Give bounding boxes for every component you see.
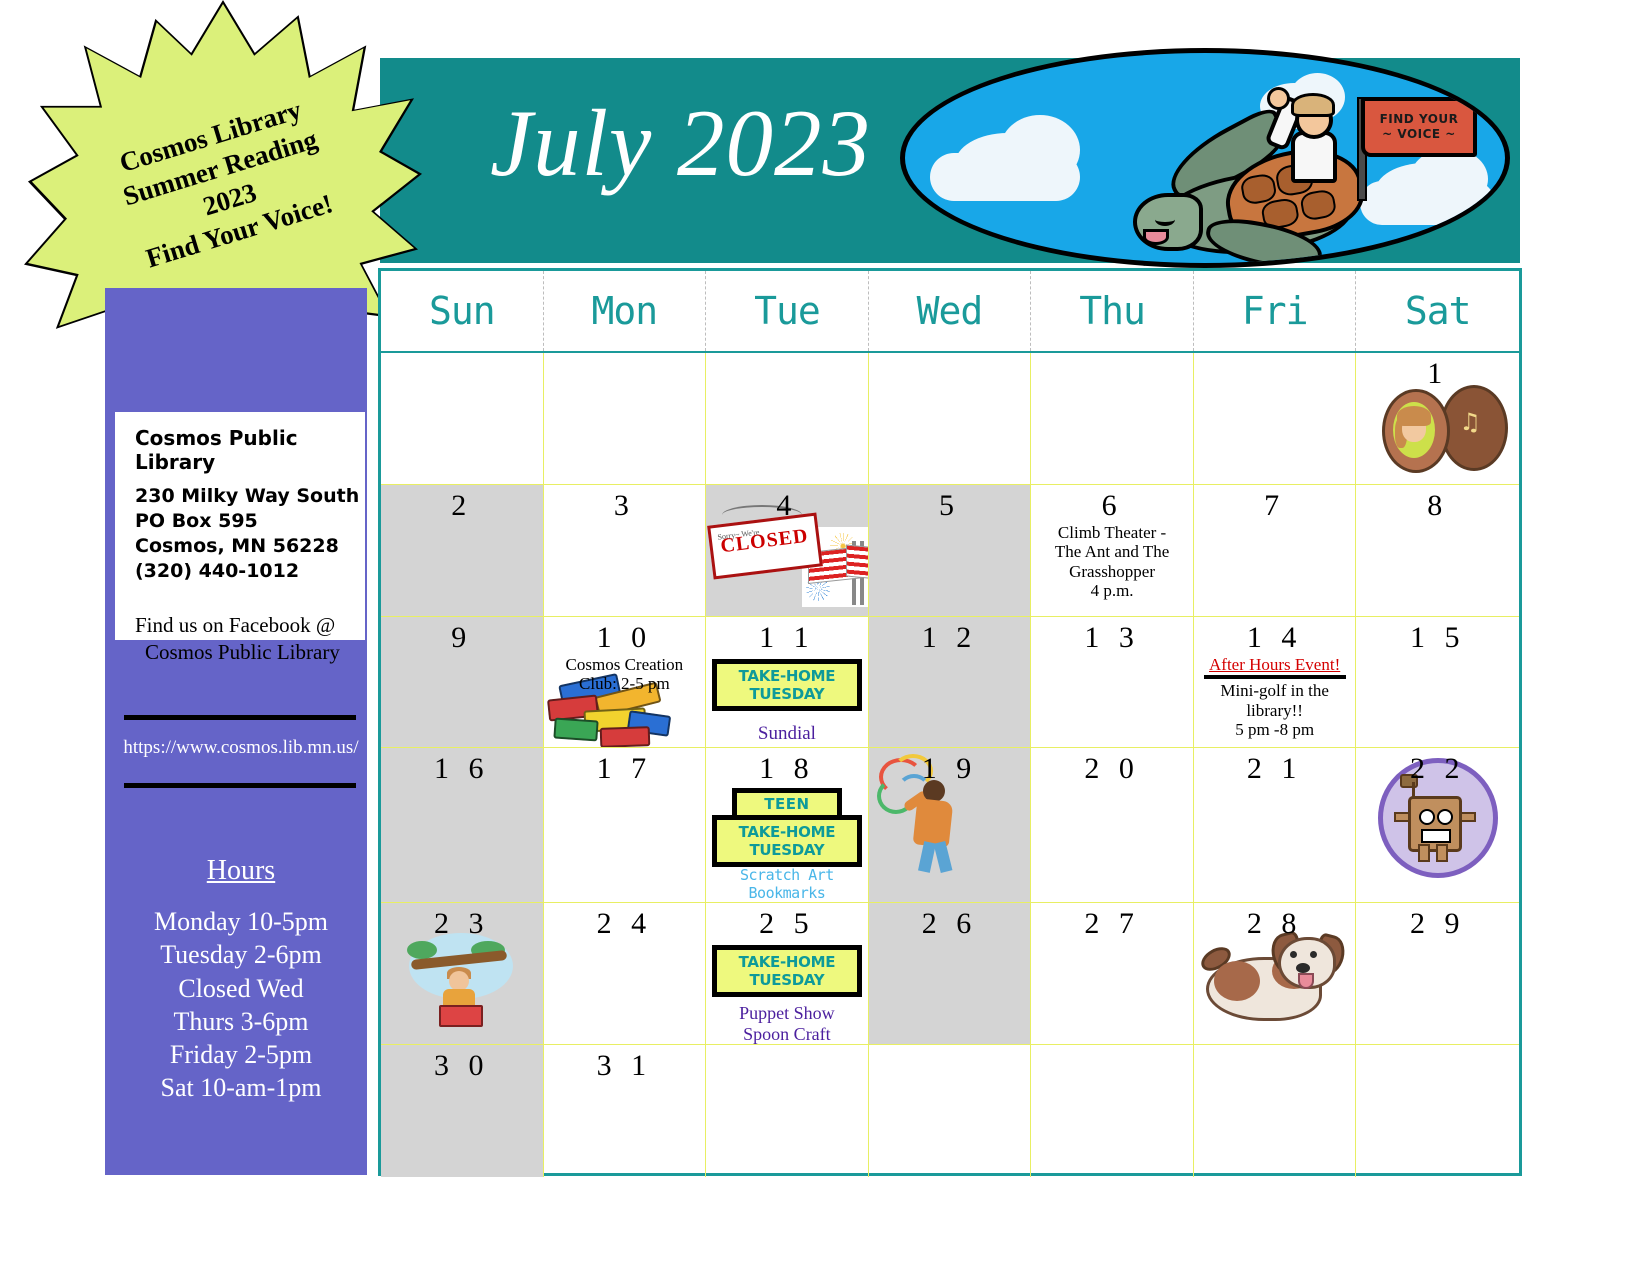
teen-banner: TEEN: [732, 788, 842, 815]
event-subtitle: Puppet Show Spoon Craft: [706, 1003, 868, 1044]
day-cell-31[interactable]: 3 1: [544, 1045, 707, 1177]
day-number: 1 2: [869, 617, 1031, 655]
hours-item: Monday 10-5pm: [112, 905, 370, 938]
day-cell-empty: [869, 353, 1032, 484]
day-cell-16[interactable]: 1 6: [381, 748, 544, 902]
day-cell-empty: [706, 1045, 869, 1177]
day-cell-1[interactable]: 1 ♫: [1356, 353, 1519, 484]
day-number: 1 5: [1356, 617, 1519, 655]
locket-portrait: [1393, 402, 1435, 458]
robot-mouth: [1421, 829, 1451, 843]
day-cell-15[interactable]: 1 5: [1356, 617, 1519, 748]
after-hours-alert: After Hours Event!: [1194, 655, 1356, 675]
day-cell-empty: [1031, 1045, 1194, 1177]
day-header-wed: Wed: [869, 271, 1032, 351]
alert-underline: [1204, 675, 1346, 679]
day-cell-6[interactable]: 6 Climb Theater - The Ant and The Grassh…: [1031, 485, 1194, 616]
event-line: Climb Theater -: [1031, 523, 1193, 543]
hours-item: Sat 10-am-1pm: [112, 1071, 370, 1104]
day-cell-27[interactable]: 2 7: [1031, 903, 1194, 1044]
hours-item: Tuesday 2-6pm: [112, 938, 370, 971]
day-header-sat: Sat: [1356, 271, 1519, 351]
robot-eye: [1419, 809, 1435, 825]
day-number: 2: [381, 485, 543, 523]
event-line: Mini-golf in the: [1194, 681, 1356, 701]
library-name: Cosmos Public Library: [135, 426, 365, 474]
day-number: 6: [1031, 485, 1193, 523]
day-cell-empty: [1194, 353, 1357, 484]
event-line: library!!: [1194, 701, 1356, 721]
event-text: Mini-golf in the library!! 5 pm -8 pm: [1194, 681, 1356, 740]
day-cell-26[interactable]: 2 6: [869, 903, 1032, 1044]
event-line: 4 p.m.: [1031, 581, 1193, 601]
locket-right-half: ♫: [1440, 385, 1508, 471]
day-cell-20[interactable]: 2 0: [1031, 748, 1194, 902]
hours-item: Friday 2-5pm: [112, 1038, 370, 1071]
day-number: 4: [706, 485, 868, 523]
day-cell-empty: [1194, 1045, 1357, 1177]
day-cell-19[interactable]: 1 9: [869, 748, 1032, 902]
day-number: 1 1: [706, 617, 868, 655]
day-cell-21[interactable]: 2 1: [1194, 748, 1357, 902]
day-cell-11[interactable]: 1 1 TAKE-HOME TUESDAY Sundial: [706, 617, 869, 748]
day-cell-23[interactable]: 2 3: [381, 903, 544, 1044]
day-number: 2 1: [1194, 748, 1356, 786]
day-cell-3[interactable]: 3: [544, 485, 707, 616]
day-number: 1 4: [1194, 617, 1356, 655]
calendar-week-row: 2 3 2 4 2 5 TAKE-HOME TUESDAY: [381, 903, 1519, 1045]
dog-patch: [1214, 961, 1260, 1001]
dog-eye: [1290, 951, 1297, 958]
child-head: [449, 971, 469, 991]
locket-left-half: [1382, 389, 1450, 473]
day-header-row: Sun Mon Tue Wed Thu Fri Sat: [381, 271, 1519, 353]
day-number: 1 7: [544, 748, 706, 786]
book-icon: [439, 1005, 483, 1027]
event-subtitle: Sundial: [706, 723, 868, 745]
day-number: 1 8: [706, 748, 868, 786]
day-number: 2 9: [1356, 903, 1519, 941]
day-cell-22[interactable]: 2 2: [1356, 748, 1519, 902]
dancer-body: [912, 799, 953, 849]
lego-brick: [553, 717, 598, 741]
turtle-head-icon: [1133, 193, 1203, 251]
day-number: 3 0: [381, 1045, 543, 1083]
calendar-week-row: 2 3 4: [381, 485, 1519, 617]
locket-icon: ♫: [1382, 381, 1506, 471]
event-text: Climb Theater - The Ant and The Grasshop…: [1031, 523, 1193, 601]
event-line: Grasshopper: [1031, 562, 1193, 582]
divider-bottom: [124, 783, 356, 788]
day-header-sun: Sun: [381, 271, 544, 351]
facebook-info: Find us on Facebook @ Cosmos Public Libr…: [135, 612, 365, 665]
day-cell-18[interactable]: 1 8 TEEN TAKE-HOME TUESDAY Scratch Art B…: [706, 748, 869, 902]
day-number: 2 0: [1031, 748, 1193, 786]
day-header-mon: Mon: [544, 271, 707, 351]
day-cell-14[interactable]: 1 4 After Hours Event! Mini-golf in the …: [1194, 617, 1357, 748]
turtle-mouth-icon: [1143, 229, 1169, 245]
lego-brick: [599, 726, 650, 748]
day-number: 1 3: [1031, 617, 1193, 655]
day-number: 5: [869, 485, 1031, 523]
leaf: [407, 941, 437, 959]
library-website-url[interactable]: https://www.cosmos.lib.mn.us/: [112, 737, 370, 759]
rider-hand-icon: [1267, 87, 1290, 110]
day-number: 8: [1356, 485, 1519, 523]
dancer-leg: [918, 841, 936, 873]
take-home-tuesday-banner: TAKE-HOME TUESDAY: [712, 815, 862, 867]
day-cell-7[interactable]: 7: [1194, 485, 1357, 616]
event-line: The Ant and The: [1031, 542, 1193, 562]
flag-line-2: ~ VOICE ~: [1382, 127, 1456, 142]
day-number: 2 7: [1031, 903, 1193, 941]
find-your-voice-flag: FIND YOUR ~ VOICE ~: [1361, 97, 1477, 157]
robot-leg: [1436, 844, 1448, 862]
take-home-tuesday-banner: TAKE-HOME TUESDAY: [712, 945, 862, 997]
hours-list: Monday 10-5pm Tuesday 2-6pm Closed Wed T…: [112, 905, 370, 1105]
event-line: Cosmos Creation: [544, 655, 706, 675]
day-number: 3 1: [544, 1045, 706, 1083]
day-cell-12[interactable]: 1 2: [869, 617, 1032, 748]
calendar-week-row: 1 6 1 7 1 8 TEEN TAKE-HOME TUESDAY Scrat…: [381, 748, 1519, 903]
dog-nose: [1296, 963, 1310, 973]
hours-heading: Hours: [112, 855, 370, 887]
day-cell-empty: [1031, 353, 1194, 484]
day-number: 2 5: [706, 903, 868, 941]
event-line: Spoon Craft: [706, 1024, 868, 1045]
robot-body: [1408, 796, 1462, 852]
day-number: 7: [1194, 485, 1356, 523]
flag-line-1: FIND YOUR: [1380, 112, 1459, 127]
divider-top: [124, 715, 356, 720]
day-cell-empty: [381, 353, 544, 484]
day-cell-17[interactable]: 1 7: [544, 748, 707, 902]
day-cell-4[interactable]: 4 Sorry~ We're CLOSED: [706, 485, 869, 616]
cloud-icon: [930, 153, 1080, 201]
day-cell-28[interactable]: 2 8: [1194, 903, 1357, 1044]
day-cell-empty: [544, 353, 707, 484]
dog-eye: [1310, 951, 1317, 958]
event-line: Bookmarks: [706, 885, 868, 902]
calendar-grid: Sun Mon Tue Wed Thu Fri Sat 1 ♫: [378, 268, 1522, 1176]
header-band: July 2023 FIND YOUR ~ VOICE ~: [380, 58, 1520, 263]
day-number: 2 2: [1356, 748, 1519, 786]
robot-leg: [1418, 844, 1430, 862]
rider-hair-icon: [1291, 93, 1335, 117]
calendar-weeks: 1 ♫ 2 3: [381, 353, 1519, 1177]
address-line-2: PO Box 595: [135, 509, 365, 534]
day-number: 1 6: [381, 748, 543, 786]
day-cell-29[interactable]: 2 9: [1356, 903, 1519, 1044]
facebook-line-2: Cosmos Public Library: [135, 639, 365, 665]
day-number: 3: [544, 485, 706, 523]
event-line: 5 pm -8 pm: [1194, 720, 1356, 740]
event-subtitle: Scratch Art Bookmarks: [706, 867, 868, 902]
day-number: 1: [1356, 353, 1519, 391]
music-note-icon: ♫: [1459, 408, 1481, 436]
hours-item: Thurs 3-6pm: [112, 1005, 370, 1038]
library-info-card: Cosmos Public Library 230 Milky Way Sout…: [115, 412, 365, 640]
address-line-1: 230 Milky Way South: [135, 484, 365, 509]
calendar-week-row: 9 1 0 Cosmos Creation Club: 2-5 pm: [381, 617, 1519, 749]
phone-number: (320) 440-1012: [135, 559, 365, 584]
event-text: Cosmos Creation Club: 2-5 pm: [544, 655, 706, 694]
day-header-fri: Fri: [1194, 271, 1357, 351]
dancer-leg: [933, 841, 952, 873]
event-line: Club: 2-5 pm: [544, 674, 706, 694]
calendar-week-row: 3 0 3 1: [381, 1045, 1519, 1177]
day-number: 1 9: [869, 748, 1031, 786]
day-cell-empty: [869, 1045, 1032, 1177]
day-cell-9[interactable]: 9: [381, 617, 544, 748]
summer-reading-illustration: FIND YOUR ~ VOICE ~: [900, 48, 1510, 268]
shell-plate: [1299, 188, 1337, 221]
day-header-thu: Thu: [1031, 271, 1194, 351]
day-cell-24[interactable]: 2 4: [544, 903, 707, 1044]
event-line: Puppet Show: [706, 1003, 868, 1024]
day-number: 2 3: [381, 903, 543, 941]
day-cell-2[interactable]: 2: [381, 485, 544, 616]
day-cell-13[interactable]: 1 3: [1031, 617, 1194, 748]
day-number: 2 8: [1194, 903, 1356, 941]
day-cell-empty: [706, 353, 869, 484]
day-cell-10[interactable]: 1 0 Cosmos Creation Club: 2-5 pm: [544, 617, 707, 748]
take-home-tuesday-banner: TAKE-HOME TUESDAY: [712, 659, 862, 711]
day-cell-8[interactable]: 8: [1356, 485, 1519, 616]
dog-tongue: [1298, 973, 1314, 989]
day-number: 9: [381, 617, 543, 655]
day-number: 2 4: [544, 903, 706, 941]
hair: [1397, 406, 1431, 426]
day-number: 1 0: [544, 617, 706, 655]
address-line-3: Cosmos, MN 56228: [135, 534, 365, 559]
us-flag-icon: [846, 544, 869, 581]
day-number: 2 6: [869, 903, 1031, 941]
hours-item: Closed Wed: [112, 972, 370, 1005]
day-cell-25[interactable]: 2 5 TAKE-HOME TUESDAY Puppet Show Spoon …: [706, 903, 869, 1044]
turtle-eye-icon: [1155, 213, 1175, 226]
robot-eye: [1437, 809, 1453, 825]
day-cell-empty: [1356, 1045, 1519, 1177]
facebook-line-1: Find us on Facebook @: [135, 613, 335, 637]
day-cell-30[interactable]: 3 0: [381, 1045, 544, 1177]
day-header-tue: Tue: [706, 271, 869, 351]
page-title: July 2023: [490, 88, 871, 198]
sorry-were-text: Sorry~ We're: [717, 524, 761, 544]
day-cell-5[interactable]: 5: [869, 485, 1032, 616]
calendar-week-row: 1 ♫: [381, 353, 1519, 485]
event-line: Scratch Art: [706, 867, 868, 884]
cloud-icon: [1360, 181, 1495, 225]
